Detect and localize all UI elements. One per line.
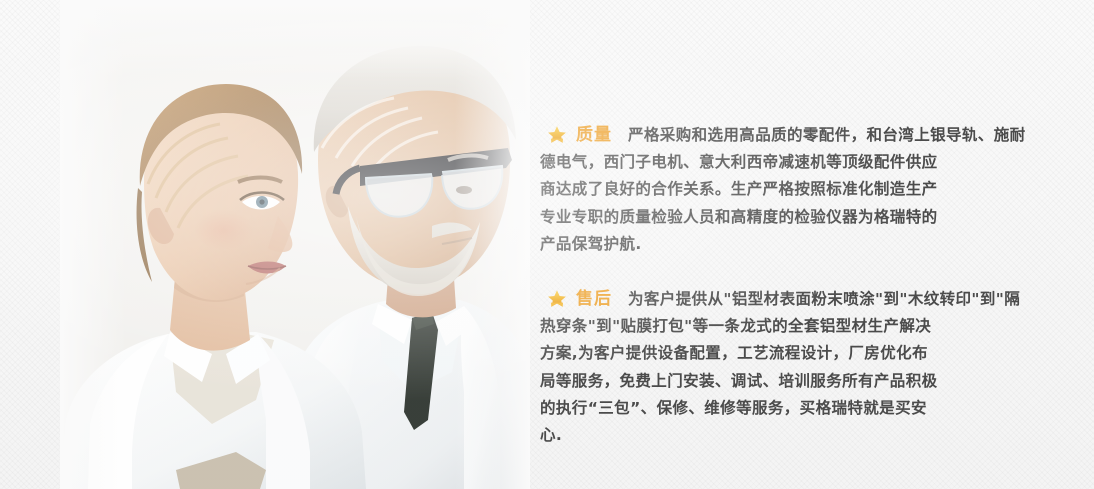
- body-line: 的执行“三包”、保修、维修等服务，买格瑞特就是买安: [540, 395, 1094, 422]
- feature-body: 为客户提供从"铝型材表面粉末喷涂"到"木纹转印"到"隔 热穿条"到"贴膜打包"等…: [628, 286, 1094, 449]
- body-line: 心.: [540, 422, 1094, 449]
- team-photo: [60, 0, 530, 489]
- feature-heading: 质量: [576, 122, 612, 149]
- body-line: 热穿条"到"贴膜打包"等一条龙式的全套铝型材生产解决: [540, 313, 1094, 340]
- body-line: 严格采购和选用高品质的零配件，和台湾上银导轨、施耐: [628, 122, 1094, 149]
- feature-list: 质量 严格采购和选用高品质的零配件，和台湾上银导轨、施耐 德电气，西门子电机、意…: [540, 122, 1094, 477]
- body-line: 产品保驾护航.: [540, 231, 1094, 258]
- body-line: 商达成了良好的合作关系。生产严格按照标准化制造生产: [540, 176, 1094, 203]
- star-icon: [546, 288, 568, 310]
- feature-block-after-sales: 售后 为客户提供从"铝型材表面粉末喷涂"到"木纹转印"到"隔 热穿条"到"贴膜打…: [540, 286, 1094, 449]
- body-line: 为客户提供从"铝型材表面粉末喷涂"到"木纹转印"到"隔: [628, 286, 1094, 313]
- body-line: 局等服务，免费上门安装、调试、培训服务所有产品积极: [540, 368, 1094, 395]
- body-line: 方案,为客户提供设备配置，工艺流程设计，厂房优化布: [540, 340, 1094, 367]
- feature-block-quality: 质量 严格采购和选用高品质的零配件，和台湾上银导轨、施耐 德电气，西门子电机、意…: [540, 122, 1094, 258]
- body-line: 专业专职的质量检验人员和高精度的检验仪器为格瑞特的: [540, 204, 1094, 231]
- feature-heading: 售后: [576, 286, 612, 313]
- team-photo-illustration: [60, 0, 530, 489]
- feature-body: 严格采购和选用高品质的零配件，和台湾上银导轨、施耐 德电气，西门子电机、意大利西…: [628, 122, 1094, 258]
- promo-banner: 质量 严格采购和选用高品质的零配件，和台湾上银导轨、施耐 德电气，西门子电机、意…: [0, 0, 1094, 489]
- body-line: 德电气，西门子电机、意大利西帝减速机等顶级配件供应: [540, 149, 1094, 176]
- star-icon: [546, 124, 568, 146]
